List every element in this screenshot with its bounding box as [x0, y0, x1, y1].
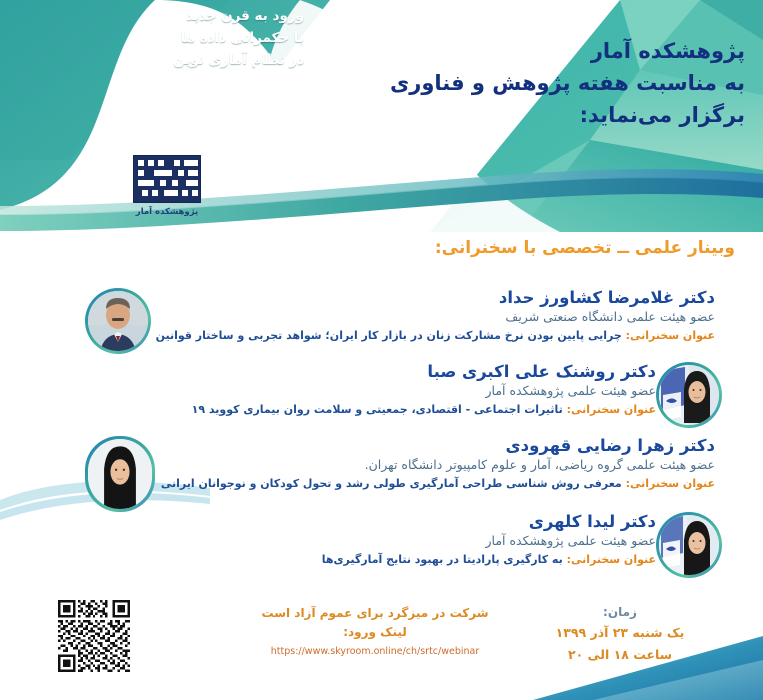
speaker-name: دکتر زهرا رضایی قهرودی — [155, 436, 715, 455]
slogan-line-3: در نظام آماری نوین — [0, 50, 304, 72]
organization-logo: پژوهشکده آمار — [124, 155, 210, 217]
speaker-affiliation: عضو هیئت علمی پژوهشکده آمار — [82, 533, 656, 550]
speaker-affiliation: عضو هیئت علمی دانشگاه صنعتی شریف — [151, 309, 715, 326]
participation-info: شرکت در میزگرد برای عموم آزاد است لینک و… — [245, 604, 505, 657]
talk-label: عنوان سخنرانی: — [626, 477, 715, 490]
slogan-line-2: با حکمرانی داده ها — [0, 28, 304, 50]
talk-title: تاثیرات اجتماعی - اقتصادی، جمعیتی و سلام… — [192, 403, 563, 416]
time-info: زمان: یک شنبه ۲۳ آذر ۱۳۹۹ ساعت ۱۸ الی ۲۰ — [525, 602, 715, 665]
avatar — [656, 512, 722, 578]
slogan-line-1: ورود به قرن جدید — [0, 6, 304, 28]
talk-label: عنوان سخنرانی: — [626, 329, 715, 342]
speaker-name: دکتر غلامرضا کشاورز حداد — [151, 288, 715, 307]
speaker-name: دکتر لیدا کلهری — [82, 512, 656, 531]
webinar-poster: ورود به قرن جدید با حکمرانی داده ها در ن… — [0, 0, 763, 700]
speaker-row-2: دکتر روشنک علی اکبری صبا عضو هیئت علمی پ… — [72, 362, 722, 428]
time-label: زمان: — [525, 602, 715, 622]
talk-title: به کارگیری پارادیتا در بهبود نتایج آمارگ… — [322, 553, 563, 566]
header-slogan: ورود به قرن جدید با حکمرانی داده ها در ن… — [0, 6, 320, 72]
speaker-talk: عنوان سخنرانی: چرایی پایین بودن نرخ مشار… — [151, 328, 715, 344]
link-label: لینک ورود: — [245, 623, 505, 642]
webinar-link[interactable]: https://www.skyroom.online/ch/srtc/webin… — [245, 646, 505, 657]
talk-title: معرفی روش شناسی طراحی آمارگیری طولی رشد … — [161, 477, 622, 490]
event-hours: ساعت ۱۸ الی ۲۰ — [525, 644, 715, 665]
speaker-photo-rezaei-ghahroodi — [88, 439, 152, 509]
logo-caption: پژوهشکده آمار — [124, 207, 210, 217]
event-date: یک شنبه ۲۳ آذر ۱۳۹۹ — [525, 622, 715, 643]
speaker-affiliation: عضو هیئت علمی گروه ریاضی، آمار و علوم کا… — [155, 457, 715, 474]
speaker-talk: عنوان سخنرانی: معرفی روش شناسی طراحی آما… — [155, 476, 715, 492]
title-line-3: برگزار می‌نماید: — [315, 100, 745, 132]
avatar — [656, 362, 722, 428]
page-title: پژوهشکده آمار به مناسبت هفته پژوهش و فنا… — [315, 36, 745, 132]
speaker-row-1: دکتر غلامرضا کشاورز حداد عضو هیئت علمی د… — [85, 288, 725, 354]
speaker-talk: عنوان سخنرانی: تاثیرات اجتماعی - اقتصادی… — [82, 402, 656, 418]
qr-code[interactable] — [58, 600, 130, 672]
srtc-mosaic-logo-icon — [133, 155, 201, 203]
webinar-heading: وبینار علمی ــ تخصصی با سخنرانی: — [435, 238, 735, 258]
header-banner: ورود به قرن جدید با حکمرانی داده ها در ن… — [0, 0, 763, 232]
participation-note: شرکت در میزگرد برای عموم آزاد است — [245, 604, 505, 623]
speaker-photo-kalhori — [659, 515, 719, 575]
title-line-2: به مناسبت هفته پژوهش و فناوری — [315, 68, 745, 100]
talk-title: چرایی پایین بودن نرخ مشارکت زنان در بازا… — [156, 329, 622, 342]
speaker-affiliation: عضو هیئت علمی پژوهشکده آمار — [82, 383, 656, 400]
title-line-1: پژوهشکده آمار — [315, 36, 745, 68]
avatar — [85, 288, 151, 354]
speaker-row-3: دکتر زهرا رضایی قهرودی عضو هیئت علمی گرو… — [85, 436, 725, 512]
speaker-row-4: دکتر لیدا کلهری عضو هیئت علمی پژوهشکده آ… — [72, 512, 722, 578]
talk-label: عنوان سخنرانی: — [567, 553, 656, 566]
speaker-name: دکتر روشنک علی اکبری صبا — [82, 362, 656, 381]
talk-label: عنوان سخنرانی: — [567, 403, 656, 416]
qr-code-icon[interactable] — [58, 600, 130, 672]
speaker-photo-aliakbari-saba — [659, 365, 719, 425]
speaker-talk: عنوان سخنرانی: به کارگیری پارادیتا در به… — [82, 552, 656, 568]
speaker-photo-keshavarz-haddad — [88, 291, 148, 351]
avatar — [85, 436, 155, 512]
